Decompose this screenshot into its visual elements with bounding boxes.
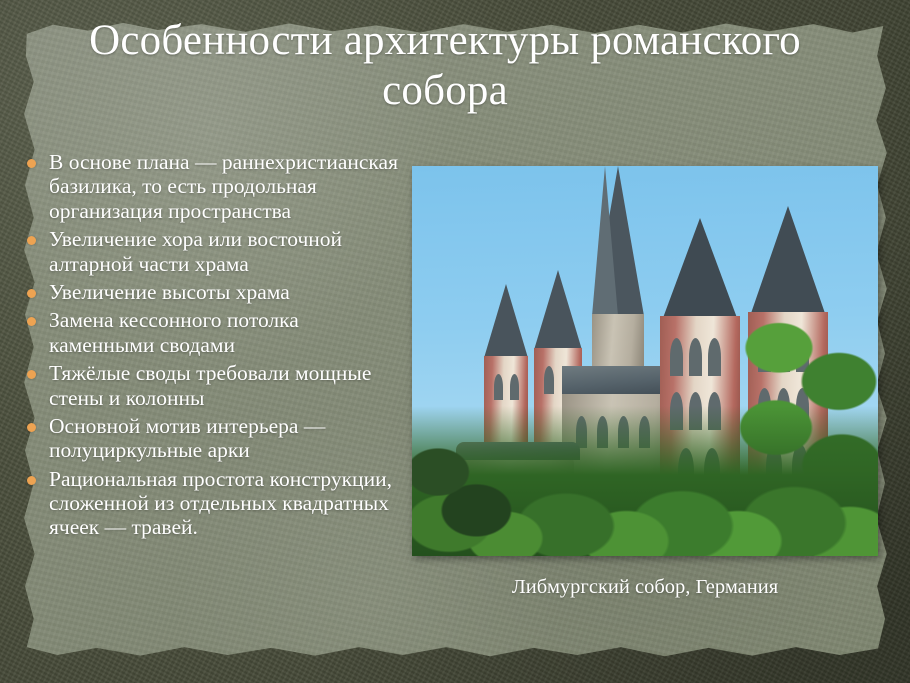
bullet-dot-icon (27, 370, 36, 379)
bullet-list: В основе плана — раннехристианская базил… (22, 150, 407, 544)
list-item-text: Тяжёлые своды требовали мощные стены и к… (49, 361, 371, 409)
list-item-text: Рациональная простота конструкции, сложе… (49, 467, 392, 540)
page-title: Особенности архитектуры романского собор… (50, 16, 840, 116)
list-item: В основе плана — раннехристианская базил… (22, 150, 407, 223)
list-item-text: Замена кессонного потолка каменными свод… (49, 308, 299, 356)
bullet-dot-icon (27, 236, 36, 245)
image-caption: Либмургский собор, Германия (412, 575, 878, 600)
list-item-text: В основе плана — раннехристианская базил… (49, 150, 398, 223)
list-item: Основной мотив интерьера — полуциркульны… (22, 414, 407, 463)
slide: Особенности архитектуры романского собор… (0, 0, 910, 683)
cathedral-photo (412, 166, 878, 556)
photo-canvas (412, 166, 878, 556)
bullet-dot-icon (27, 289, 36, 298)
bullet-dot-icon (27, 159, 36, 168)
list-item: Тяжёлые своды требовали мощные стены и к… (22, 361, 407, 410)
bullet-dot-icon (27, 423, 36, 432)
list-item-text: Увеличение высоты храма (49, 280, 290, 304)
list-item: Увеличение высоты храма (22, 280, 407, 304)
bullet-dot-icon (27, 317, 36, 326)
list-item: Рациональная простота конструкции, сложе… (22, 467, 407, 540)
list-item-text: Увеличение хора или восточной алтарной ч… (49, 227, 342, 275)
tree-foliage-left (412, 436, 522, 556)
list-item: Увеличение хора или восточной алтарной ч… (22, 227, 407, 276)
list-item: Замена кессонного потолка каменными свод… (22, 308, 407, 357)
bullet-dot-icon (27, 476, 36, 485)
list-item-text: Основной мотив интерьера — полуциркульны… (49, 414, 325, 462)
